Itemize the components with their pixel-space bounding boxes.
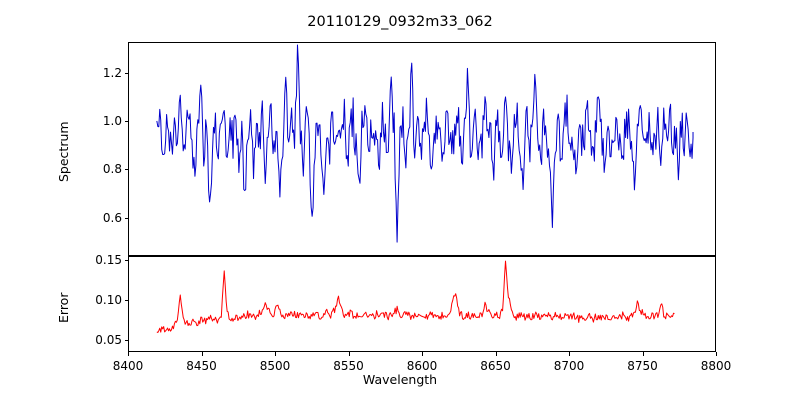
x-tick-mark — [349, 352, 350, 356]
x-tick-label-1: 8450 — [172, 359, 232, 373]
y-tick-label-spectrum-1: 0.8 — [82, 162, 122, 176]
x-tick-label-4: 8600 — [392, 359, 452, 373]
y-tick-label-spectrum-0: 0.6 — [82, 211, 122, 225]
x-tick-mark — [128, 352, 129, 356]
y-tick-mark — [125, 218, 129, 219]
x-tick-label-7: 8750 — [613, 359, 673, 373]
spectrum-y-axis-label: Spectrum — [56, 121, 71, 182]
y-tick-label-error-1: 0.10 — [82, 293, 122, 307]
x-tick-label-2: 8500 — [245, 359, 305, 373]
figure-canvas: 20110129_0932m33_062 0.60.81.01.20.050.1… — [0, 0, 800, 400]
x-tick-label-0: 8400 — [98, 359, 158, 373]
y-tick-mark — [125, 260, 129, 261]
chart-title: 20110129_0932m33_062 — [0, 14, 800, 30]
y-tick-label-error-2: 0.15 — [82, 253, 122, 267]
y-tick-label-spectrum-2: 1.0 — [82, 114, 122, 128]
spectrum-plot-area — [128, 42, 716, 256]
x-tick-mark — [496, 352, 497, 356]
y-tick-mark — [125, 300, 129, 301]
x-tick-mark — [716, 352, 717, 356]
error-series-line — [129, 257, 715, 351]
y-tick-mark — [125, 73, 129, 74]
x-tick-label-3: 8550 — [319, 359, 379, 373]
error-plot-area — [128, 256, 716, 352]
x-tick-label-5: 8650 — [466, 359, 526, 373]
y-tick-mark — [125, 340, 129, 341]
x-axis-label: Wavelength — [0, 372, 800, 387]
x-tick-mark — [422, 352, 423, 356]
spectrum-series-line — [129, 43, 715, 255]
y-tick-mark — [125, 121, 129, 122]
x-tick-mark — [569, 352, 570, 356]
x-tick-label-6: 8700 — [539, 359, 599, 373]
y-tick-label-spectrum-3: 1.2 — [82, 66, 122, 80]
y-tick-label-error-0: 0.05 — [82, 333, 122, 347]
x-tick-label-8: 8800 — [686, 359, 746, 373]
x-tick-mark — [202, 352, 203, 356]
x-tick-mark — [275, 352, 276, 356]
y-tick-mark — [125, 169, 129, 170]
x-tick-mark — [643, 352, 644, 356]
error-y-axis-label: Error — [56, 293, 71, 323]
